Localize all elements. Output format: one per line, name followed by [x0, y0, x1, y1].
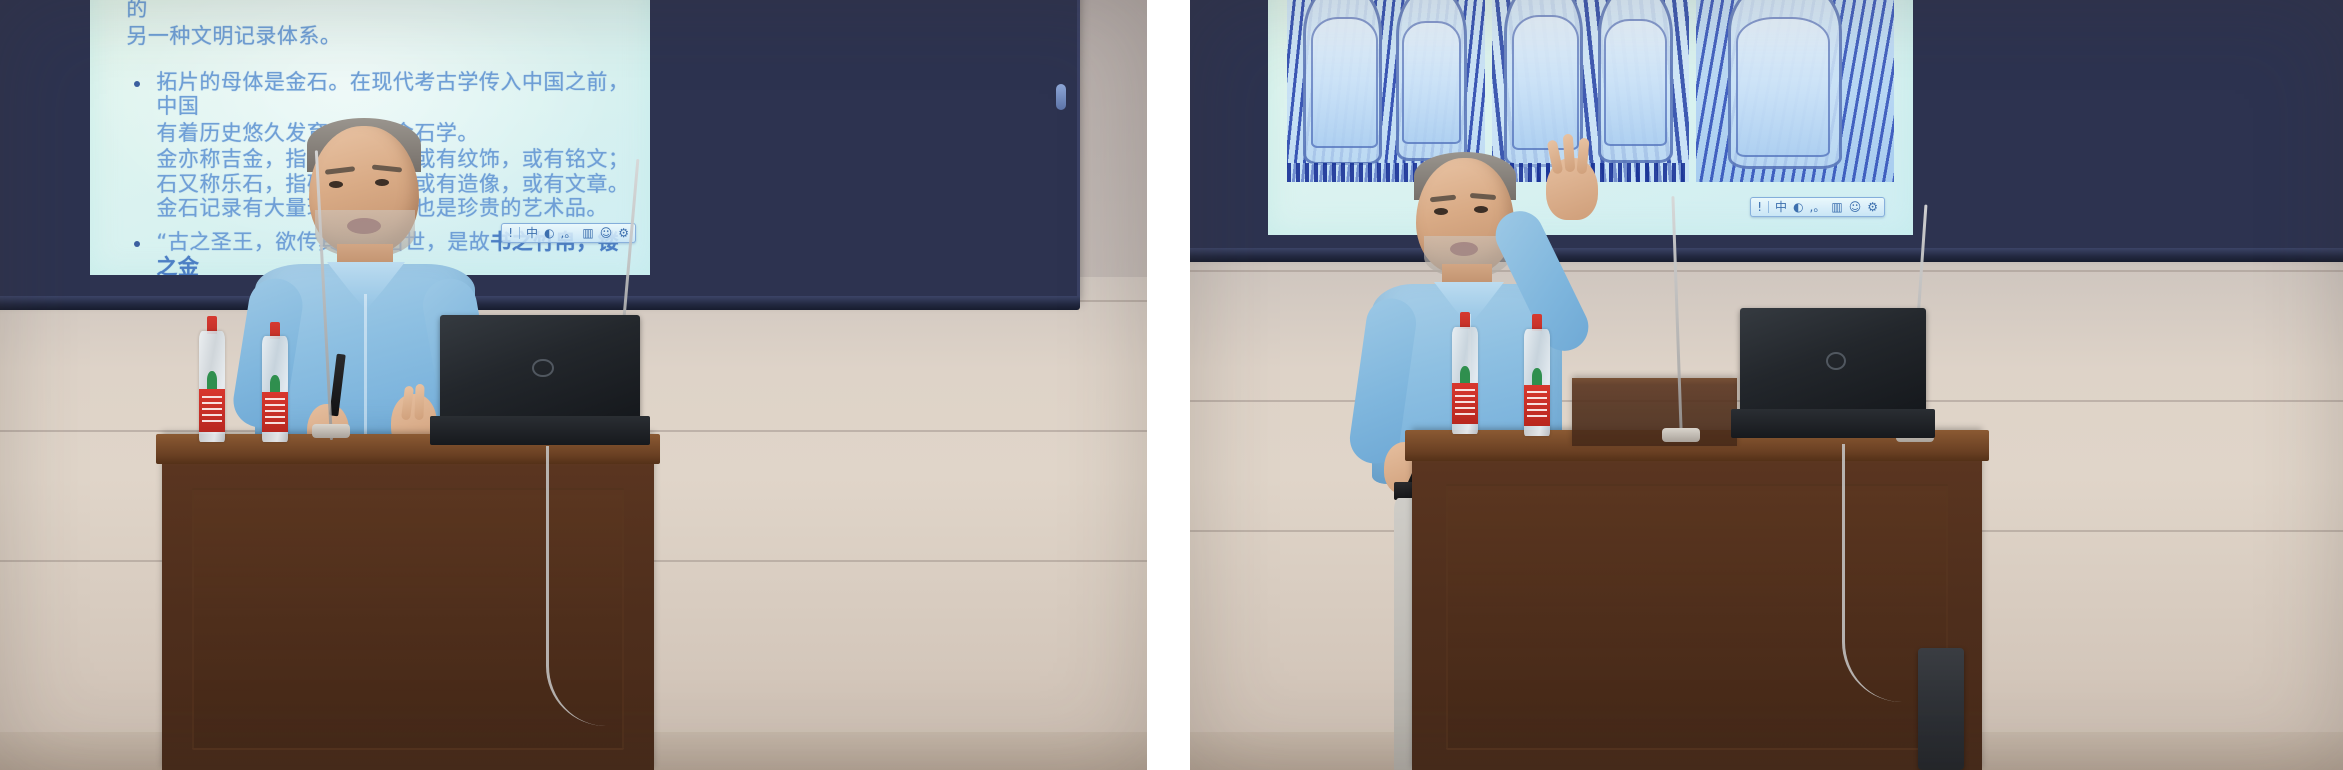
eye-left — [1434, 208, 1448, 215]
left-lecture-photo: 写工具——宣纸和墨，发展成为独立于纸本文献之外的 另一种文明记录体系。 拓片的母… — [0, 0, 1147, 770]
blackboard-chalk-lip — [0, 296, 1080, 310]
shirt-placket — [364, 294, 367, 444]
ime-emoji-icon[interactable]: ☺ — [1849, 201, 1862, 213]
water-bottle — [195, 316, 229, 442]
ime-chinese-mode-icon[interactable]: 中 — [526, 227, 538, 239]
eye-right — [1474, 206, 1488, 213]
bottle-label — [1452, 383, 1478, 424]
water-bottle — [1520, 314, 1554, 436]
power-cable — [546, 446, 609, 726]
screenshot-root: 写工具——宣纸和墨，发展成为独立于纸本文献之外的 另一种文明记录体系。 拓片的母… — [0, 0, 2343, 770]
laptop-base — [430, 416, 650, 445]
microphone-base — [312, 424, 350, 438]
ime-keyboard-icon[interactable]: ▥ — [582, 227, 593, 239]
bottle-label-text — [1527, 391, 1547, 419]
ime-half-width-icon[interactable]: ◐ — [544, 227, 554, 239]
microphone-base — [1662, 428, 1700, 442]
ime-language-bar[interactable]: ! 中 ◐ ,。 ▥ ☺ ⚙ — [1750, 197, 1885, 217]
ime-exclaim-icon[interactable]: ! — [1757, 201, 1762, 213]
bottle-green-mark — [1460, 366, 1470, 383]
slide-line: 另一种文明记录体系。 — [126, 24, 633, 48]
ime-punctuation-icon[interactable]: ,。 — [1810, 201, 1826, 213]
bottle-label — [199, 389, 225, 432]
laptop-lid — [1740, 308, 1926, 412]
ime-settings-gear-icon[interactable]: ⚙ — [618, 227, 629, 239]
rubbing-panel-3 — [1696, 0, 1893, 182]
bottle-green-mark — [207, 371, 217, 389]
bottle-label — [262, 392, 288, 433]
laptop-logo — [532, 359, 554, 378]
right-lecture-photo: ! 中 ◐ ,。 ▥ ☺ ⚙ — [1190, 0, 2343, 770]
ime-settings-gear-icon[interactable]: ⚙ — [1867, 201, 1878, 213]
laptop-base — [1731, 409, 1936, 438]
water-bottle — [1448, 312, 1482, 434]
blackboard-knob — [1056, 84, 1066, 110]
ime-separator — [1768, 201, 1769, 213]
water-bottle — [258, 322, 292, 442]
ime-separator — [519, 227, 520, 239]
laptop-logo — [1826, 352, 1847, 371]
ime-chinese-mode-icon[interactable]: 中 — [1775, 201, 1787, 213]
slide-line: 拓片的母体是金石。在现代考古学传入中国之前，中国 — [156, 70, 633, 119]
laptop — [1740, 308, 1926, 438]
bottle-label-text — [265, 398, 285, 426]
power-cable — [1842, 444, 1907, 702]
ime-emoji-icon[interactable]: ☺ — [600, 227, 613, 239]
slide-line: 写工具——宣纸和墨，发展成为独立于纸本文献之外的 — [126, 0, 633, 22]
bottle-green-mark — [270, 375, 280, 392]
rubbing-figure-robe — [1736, 17, 1831, 157]
bottle-label-text — [1455, 389, 1475, 417]
podium-back-shelf — [1572, 378, 1737, 446]
laptop — [440, 315, 640, 445]
rubbing-figure-robe — [1402, 21, 1461, 144]
rubbing-figure-robe — [1311, 17, 1378, 148]
rubbing-figure-robe — [1604, 19, 1667, 146]
finger — [414, 384, 424, 420]
bottle-label-text — [202, 396, 222, 425]
ime-language-bar[interactable]: ! 中 ◐ ,。 ▥ ☺ ⚙ — [501, 223, 636, 243]
floor-speaker — [1918, 648, 1964, 770]
bottle-label — [1524, 385, 1550, 426]
ime-half-width-icon[interactable]: ◐ — [1793, 201, 1803, 213]
ime-keyboard-icon[interactable]: ▥ — [1831, 201, 1842, 213]
rubbing-figure-robe — [1512, 15, 1579, 151]
eye-right — [375, 179, 389, 186]
eye-left — [329, 181, 343, 188]
ime-punctuation-icon[interactable]: ,。 — [561, 227, 577, 239]
laptop-lid — [440, 315, 640, 419]
bottle-green-mark — [1532, 368, 1542, 385]
